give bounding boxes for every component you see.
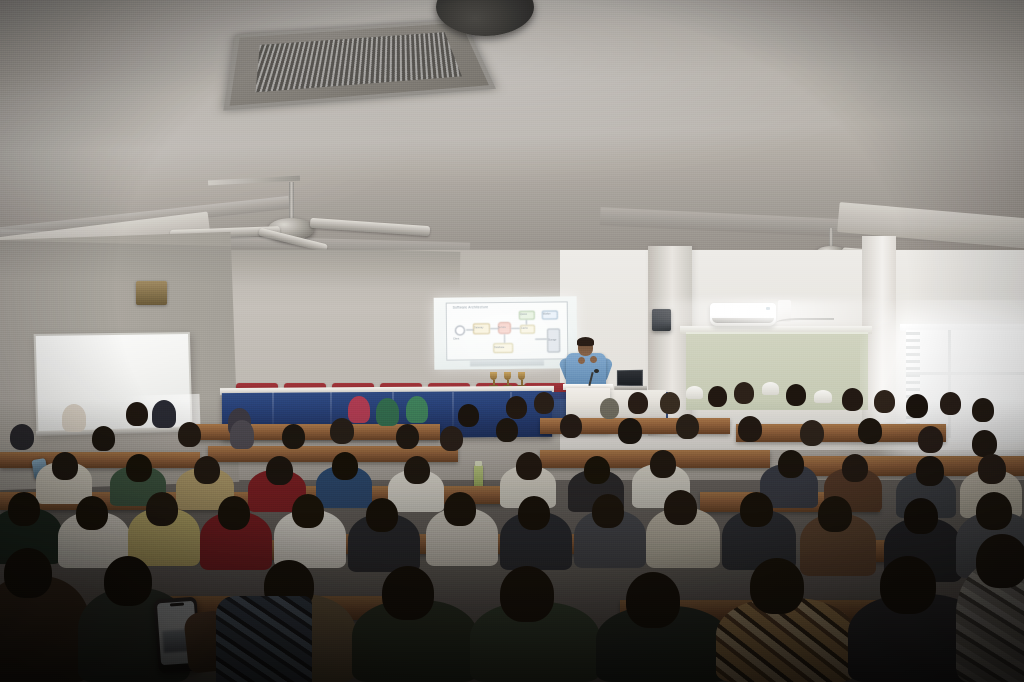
attendee-head [976,534,1024,588]
laptop-base [614,386,647,390]
attendee-head [406,396,428,423]
attendee-head [880,556,936,614]
attendee-head [292,494,324,528]
attendee-head [874,390,895,413]
air-conditioner-led [766,307,770,310]
window-mullion [948,330,951,438]
attendee-head [584,456,610,484]
attendee-head [194,456,220,484]
attendee-head [940,392,961,415]
slide-node-client-shape [455,325,465,335]
attendee-head [126,454,152,482]
attendee-head [600,398,619,419]
attendee-head [376,398,399,426]
attendee-head [500,566,554,622]
attendee-head [650,450,676,478]
attendee-head [592,494,624,528]
laptop-icon [617,370,643,387]
attendee-head [218,496,250,530]
attendee-head [916,456,944,486]
slide-connector [490,328,499,329]
attendee-head [104,556,152,606]
attendee-head [8,492,40,526]
slide-footer-bar [470,360,544,367]
attendee-head [444,492,476,526]
attendee-head [458,404,479,427]
attendee-head [918,426,943,453]
attendee-head [800,420,824,446]
attendee-head [978,454,1006,484]
attendee-head [366,498,398,532]
attendee-head [440,426,463,451]
attendee-cap [762,382,779,395]
attendee-head [618,418,642,444]
attendee-head [786,384,806,406]
bench-desk [736,424,946,442]
wall-clock-icon [136,281,167,305]
air-conditioner-pipe [776,318,834,330]
attendee-head [628,392,648,414]
attendee-head [734,382,754,404]
attendee-head [626,572,680,628]
wall-speaker-icon [652,309,671,331]
attendee-head [842,454,868,482]
attendee-head [230,420,254,449]
attendee-head [10,424,34,450]
attendee-head [660,392,680,414]
attendee-head [518,496,550,530]
attendee-head [858,418,882,444]
attendee-head [778,450,804,478]
slide-node-label: Gateway [474,326,483,329]
microphone-icon [594,369,599,373]
water-bottle-cap [475,461,482,466]
attendee-head [382,566,434,620]
projected-slide: Software Architecture Client Gateway Ser… [446,301,569,360]
attendee-head [4,548,52,598]
window-mullion [906,372,1024,375]
attendee-cap [686,386,703,399]
slide-node-label: Service [498,326,506,329]
attendee-head [126,402,148,426]
attendee-head [906,394,928,418]
slide-connector [526,320,527,325]
slide-node-label: Worker [543,313,551,316]
slide-node-label: Database [494,346,504,349]
slide-node-label: Client [453,338,459,341]
presenter-hand [578,357,585,364]
slide-node-label: Cache [521,327,528,330]
slide-node-label: Storage [548,338,556,341]
slide-connector [511,328,520,329]
slide-connector [535,339,547,340]
attendee-head [92,426,115,451]
attendee-head [332,452,358,480]
attendee-head [972,398,994,422]
attendee-head [152,400,176,428]
attendee-head [976,492,1012,530]
attendee-head [516,452,542,480]
photo-scene: Software Architecture Client Gateway Ser… [0,0,1024,682]
bench-desk [0,452,200,468]
slide-connector [466,329,474,330]
attendee-head [62,404,86,432]
attendee-head [972,430,997,457]
attendee-head [396,424,419,449]
attendee-head [738,416,762,442]
slide-node-label: Queue [520,313,527,316]
attendee-head [904,498,938,534]
attendee-head [506,396,527,419]
attendee-head [52,452,78,480]
attendee-head [676,414,699,439]
attendee-head [282,424,305,449]
attendee-head [534,392,554,414]
slide-title: Software Architecture [453,305,489,309]
vent-grille [256,32,462,92]
attendee-head [404,456,430,484]
attendee-head [740,492,773,527]
attendee-head [560,414,582,438]
attendee-cap [814,390,832,403]
attendee-body [216,596,312,682]
presenter-hand [590,356,597,363]
slide-connector [504,334,505,343]
attendee-head [330,418,354,444]
attendee-head [708,386,727,407]
window-louvre [906,332,920,436]
attendee-head [664,490,697,525]
attendee-head [348,396,370,423]
fan-downrod [289,182,294,222]
attendee-head [266,456,293,485]
presenter-hair [577,337,594,346]
air-conditioner-vent [712,318,774,323]
attendee-head [842,388,863,411]
attendee-head [818,496,852,532]
attendee-head [496,418,518,442]
attendee-head [146,492,178,526]
attendee-head [178,422,201,447]
attendee-head [76,496,108,530]
attendee-head [750,558,804,614]
